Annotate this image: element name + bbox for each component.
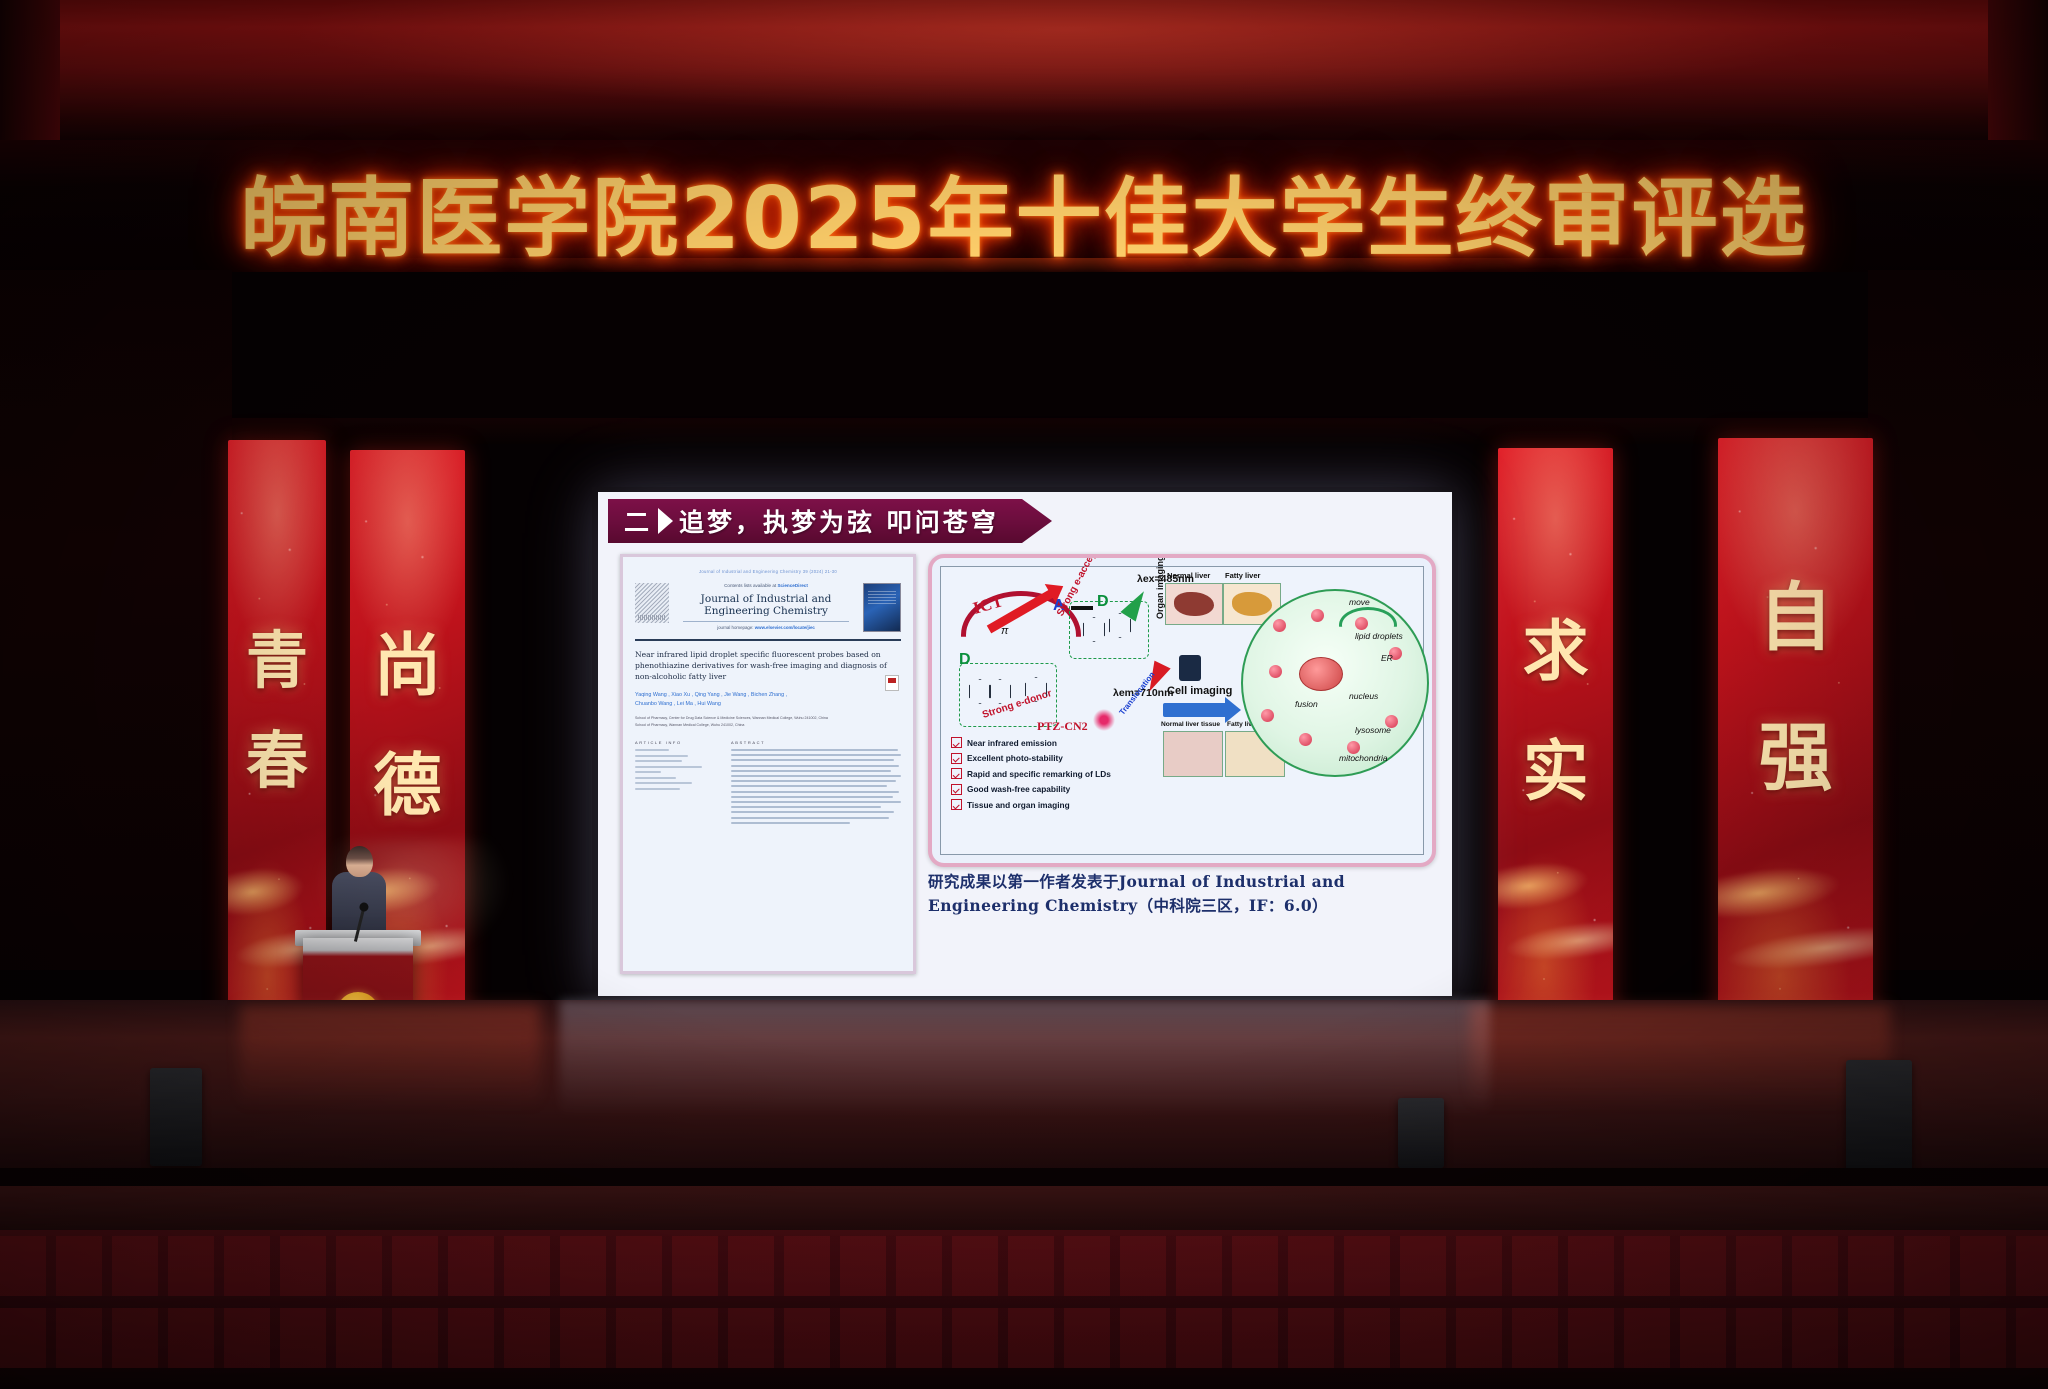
list-item: Rapid and specific remarking of LDs (951, 768, 1147, 779)
lipid-droplet-icon (1269, 665, 1282, 678)
sparkle-overlay (1718, 438, 1873, 1050)
paper-title: Near infrared lipid droplet specific flu… (635, 649, 901, 682)
right-wall (1868, 270, 2048, 970)
paper-top-citation: Journal of Industrial and Engineering Ch… (635, 569, 901, 574)
slide-section-number: 二 (624, 503, 650, 539)
cell-imaging-arrow-icon (1163, 703, 1227, 717)
journal-paper-screenshot: Journal of Industrial and Engineering Ch… (620, 554, 916, 974)
calligraphy-char: 强 (1718, 698, 1873, 805)
auditorium-scene: 皖南医学院2025年十佳大学生终审评选 青 春 尚 德 求 实 自 强 二 (0, 0, 2048, 1389)
checkbox-checked-icon (951, 753, 962, 764)
seat-row (0, 1308, 2048, 1368)
stage-monitor-left (150, 1068, 202, 1166)
graphical-abstract-inner: ICT π D A D Strong e-acceptor Strong e-d… (940, 566, 1424, 855)
screen-reflection (560, 1000, 1490, 1150)
feature-label: Good wash-free capability (967, 784, 1070, 794)
panel-label-normal-liver: Normal liver (1167, 571, 1210, 580)
normal-liver-tissue-image (1163, 731, 1223, 777)
presenter-head (346, 846, 373, 877)
list-item: Near infrared emission (951, 737, 1147, 748)
cell-label-er: ER (1381, 653, 1393, 663)
checkbox-checked-icon (951, 768, 962, 779)
calligraphy-char: 自 (1718, 558, 1873, 665)
cell-label-lipid-droplets: lipid droplets (1355, 631, 1403, 641)
cell-label-mitochondria: mitochondria (1339, 753, 1388, 763)
abstract-lines (731, 749, 901, 824)
paper-authors-line-1: Yaqing Wang , Xiao Xu , Qing Yang , Jie … (635, 691, 901, 700)
paper-authors-line-2: Chuanbo Wang , Lei Ma , Hui Wang (635, 700, 901, 709)
available-text: Contents lists available at (724, 583, 776, 588)
left-panel-reflection (240, 1005, 540, 1135)
led-banner-text: 皖南医学院2025年十佳大学生终审评选 (0, 150, 2048, 270)
caption-en-part-1: Journal of Industrial and (1119, 872, 1345, 891)
cell-illustration: move lipid droplets fusion ER nucleus ly… (1241, 589, 1429, 777)
elsevier-logo-icon (635, 583, 669, 623)
abstract-heading: ABSTRACT (731, 740, 901, 745)
graphical-abstract: ICT π D A D Strong e-acceptor Strong e-d… (928, 554, 1436, 867)
calligraphy-char: 尚 (350, 610, 465, 709)
feature-label: Tissue and organ imaging (967, 800, 1070, 810)
list-item: Good wash-free capability (951, 784, 1147, 795)
calligraphy-char: 德 (350, 730, 465, 829)
cell-label-move: move (1349, 597, 1370, 607)
liver-shape (1174, 592, 1214, 616)
nucleus-icon (1299, 657, 1343, 691)
chevron-right-icon (658, 508, 673, 534)
audience-area (0, 1230, 2048, 1389)
caption-cn-part-1: 研究成果以第一作者发表于 (928, 872, 1119, 891)
right-panel-reflection (1470, 1005, 1890, 1135)
cell-imaging-label: Cell imaging (1167, 685, 1232, 697)
led-panel-right-outer: 自 强 (1718, 438, 1873, 1050)
paper-abstract-column: ABSTRACT (731, 740, 901, 827)
paper-affiliation-2: School of Pharmacy, Wannan Medical Colle… (635, 722, 901, 728)
stage-monitor-center-right (1398, 1098, 1444, 1168)
homepage-link: www.elsevier.com/locate/jiec (755, 625, 815, 630)
calligraphy-char: 实 (1498, 718, 1613, 814)
checkbox-checked-icon (951, 784, 962, 795)
divider (683, 621, 849, 622)
sciencedirect-link: ScienceDirect (777, 583, 807, 588)
cell-label-fusion: fusion (1295, 699, 1318, 709)
presentation-slide: 二 追梦，执梦为弦 叩问苍穹 Journal of Industrial and… (598, 492, 1452, 996)
liver-shape (1232, 592, 1272, 616)
compound-name-label: PTZ-CN2 (1037, 719, 1088, 734)
slide-header-title: 追梦，执梦为弦 叩问苍穹 (679, 503, 999, 539)
list-item: Excellent photo-stability (951, 753, 1147, 764)
lipid-droplet-icon (1261, 709, 1274, 722)
calligraphy-char: 春 (228, 710, 326, 800)
panel-label-fatty-liver: Fatty liver (1225, 571, 1260, 580)
normal-liver-image (1165, 583, 1223, 625)
calligraphy-char: 青 (228, 610, 326, 700)
homepage-text: journal homepage: (717, 625, 753, 630)
stage-monitor-right (1846, 1060, 1912, 1172)
paper-masthead-center: Contents lists available at ScienceDirec… (675, 583, 857, 630)
slide-caption: 研究成果以第一作者发表于Journal of Industrial and En… (928, 870, 1440, 918)
checkbox-checked-icon (951, 737, 962, 748)
cell-label-nucleus: nucleus (1349, 691, 1378, 701)
sparkle-overlay (1498, 448, 1613, 1038)
lipid-droplet-icon (1273, 619, 1286, 632)
caption-en-part-2: Engineering Chemistry (928, 896, 1138, 915)
paper-masthead: Contents lists available at ScienceDirec… (635, 583, 901, 632)
journal-cover-thumbnail (863, 583, 901, 632)
lipid-droplet-icon (1299, 733, 1312, 746)
slide-header-banner: 二 追梦，执梦为弦 叩问苍穹 (608, 499, 1052, 543)
panel-label-normal-liver-tissue: Normal liver tissue (1161, 721, 1220, 728)
feature-checklist: Near infrared emission Excellent photo-s… (951, 737, 1147, 815)
light-swoosh (1718, 794, 1873, 1024)
paper-available-line: Contents lists available at ScienceDirec… (675, 583, 857, 588)
article-info-lines (635, 749, 721, 790)
seat-row (0, 1236, 2048, 1296)
caption-cn-part-2: （中科院三区，IF：6.0） (1138, 896, 1328, 915)
ceiling-left-edge (0, 0, 60, 160)
ceiling-glow (0, 0, 2048, 150)
light-swoosh (1498, 794, 1613, 1011)
journal-name: Journal of Industrial and Engineering Ch… (675, 593, 857, 617)
paper-homepage-line: journal homepage: www.elsevier.com/locat… (675, 625, 857, 630)
feature-label: Rapid and specific remarking of LDs (967, 769, 1111, 779)
list-item: Tissue and organ imaging (951, 799, 1147, 810)
checkbox-checked-icon (951, 799, 962, 810)
emission-starburst-icon (1091, 707, 1117, 733)
left-wall (0, 270, 232, 970)
lipid-droplet-icon (1311, 609, 1324, 622)
stage-front-edge (0, 1168, 2048, 1188)
article-info-heading: ARTICLE INFO (635, 740, 721, 745)
feature-label: Excellent photo-stability (967, 753, 1063, 763)
paper-affiliation-1: School of Pharmacy, Center for Drug Data… (635, 715, 901, 721)
cell-label-lysosome: lysosome (1355, 725, 1391, 735)
ceiling-right-edge (1988, 0, 2048, 160)
divider (635, 639, 901, 641)
paper-columns: ARTICLE INFO ABSTRACT (635, 740, 901, 827)
pdf-badge-icon (885, 675, 899, 691)
microscope-icon (1179, 655, 1201, 681)
calligraphy-char: 求 (1498, 598, 1613, 694)
feature-label: Near infrared emission (967, 738, 1057, 748)
organ-imaging-label: Organ imaging (1155, 555, 1165, 619)
led-panel-right-inner: 求 实 (1498, 448, 1613, 1038)
paper-article-info-column: ARTICLE INFO (635, 740, 721, 827)
proscenium-band (0, 272, 2048, 432)
